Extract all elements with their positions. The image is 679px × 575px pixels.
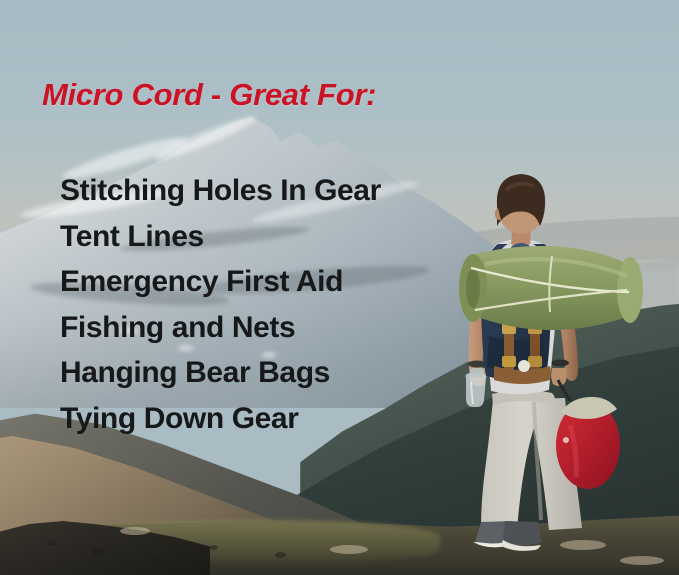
use-case-item: Emergency First Aid [60, 259, 490, 305]
right-wrist-band [551, 360, 569, 367]
strap-buckle-right-lower [528, 356, 542, 367]
stuff-sack-label [563, 437, 569, 443]
page-title: Micro Cord - Great For: [42, 77, 376, 113]
use-case-item: Tying Down Gear [60, 396, 490, 442]
product-feature-poster: Micro Cord - Great For: Stitching Holes … [0, 0, 679, 575]
use-case-list: Stitching Holes In Gear Tent Lines Emerg… [60, 168, 490, 441]
right-shoe [503, 521, 542, 546]
use-case-item: Hanging Bear Bags [60, 350, 490, 396]
strap-buckle-left-lower [502, 356, 516, 367]
pack-logo-badge [518, 360, 530, 372]
use-case-item: Fishing and Nets [60, 305, 490, 351]
use-case-item: Tent Lines [60, 214, 490, 260]
use-case-item: Stitching Holes In Gear [60, 168, 490, 214]
